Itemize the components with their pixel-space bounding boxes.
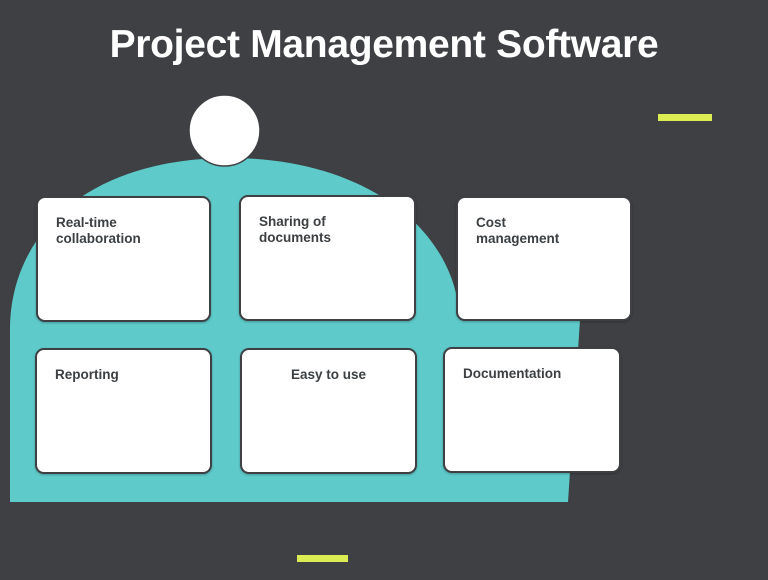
white-circle-badge [189, 95, 260, 166]
page-title: Project Management Software [0, 24, 768, 67]
yellow-dash-top-right [658, 114, 712, 121]
feature-card-easy-to-use[interactable]: Easy to use [240, 348, 417, 474]
feature-card-reporting[interactable]: Reporting [35, 348, 212, 474]
feature-card-label: Cost management [458, 215, 630, 247]
feature-card-cost-management[interactable]: Cost management [456, 196, 632, 321]
yellow-dash-bottom-center [297, 555, 348, 562]
feature-card-documentation[interactable]: Documentation [443, 347, 621, 473]
feature-card-label: Real-time collaboration [38, 215, 209, 247]
feature-card-real-time-collaboration[interactable]: Real-time collaboration [36, 196, 211, 322]
feature-card-label: Sharing of documents [241, 214, 414, 246]
feature-card-label: Easy to use [242, 367, 415, 383]
slide-canvas: Project Management Software Real-time co… [0, 0, 768, 580]
feature-card-sharing-of-documents[interactable]: Sharing of documents [239, 195, 416, 321]
feature-card-label: Documentation [445, 366, 619, 382]
feature-card-label: Reporting [37, 367, 210, 383]
